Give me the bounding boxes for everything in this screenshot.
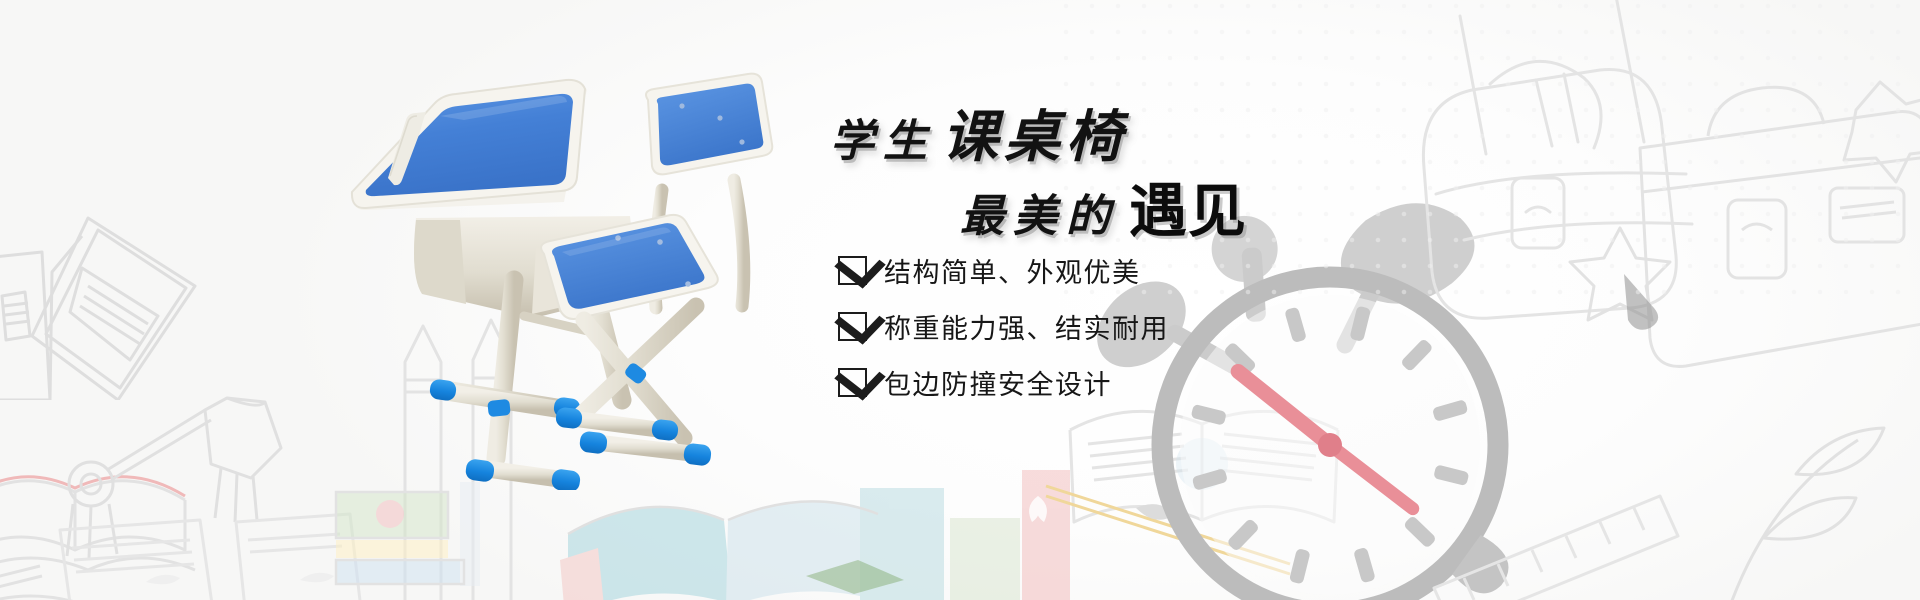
headline-line2-emphasis: 遇见 [1129,177,1247,245]
check-box-icon [838,256,867,285]
feature-item: 结构简单、外观优美 [838,250,1169,290]
headline-line-2: 最美的遇见 [960,164,1247,248]
headline-block: 学生课桌椅 最美的遇见 [1020,92,1620,242]
feature-item: 包边防撞安全设计 [838,362,1169,402]
check-box-icon [838,368,867,397]
headline-line2-plain: 最美的 [960,191,1119,242]
feature-text: 称重能力强、结实耐用 [884,307,1169,346]
headline-line1-plain: 学生 [830,116,936,167]
feature-list: 结构简单、外观优美 称重能力强、结实耐用 包边防撞安全设计 [838,250,1169,418]
marketing-copy: 学生课桌椅 最美的遇见 结构简单、外观优美 称重能力强、结实耐用 包边防撞安全设… [0,0,1920,600]
headline-line1-emphasis: 课桌椅 [942,104,1128,170]
feature-text: 包边防撞安全设计 [884,363,1112,402]
feature-text: 结构简单、外观优美 [884,251,1141,290]
check-box-icon [838,312,867,341]
promo-banner: 学生课桌椅 最美的遇见 结构简单、外观优美 称重能力强、结实耐用 包边防撞安全设… [0,0,1920,600]
headline-line-1: 学生课桌椅 [830,92,1128,173]
feature-item: 称重能力强、结实耐用 [838,306,1169,346]
